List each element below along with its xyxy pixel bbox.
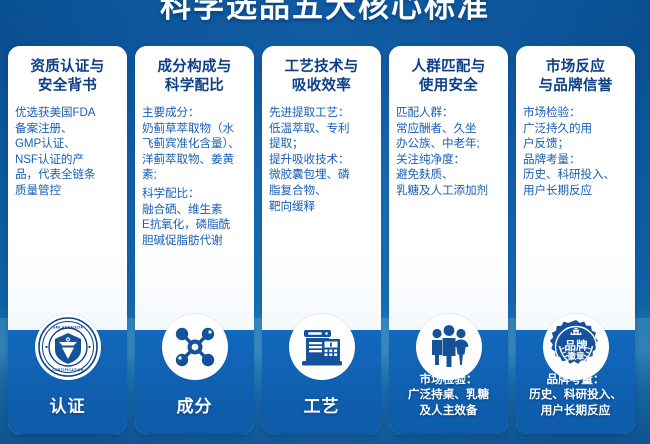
card-icon-zone: GMLANEFIEDA CERTIFICATION xyxy=(8,308,127,386)
card-heading-line: 人群匹配与 xyxy=(396,58,501,77)
card-body-text: 主要成分： 奶蓟草萃取物（水 飞蓟宾准化含量）、 洋蓟萃取物、姜黄素; 科学配比… xyxy=(142,105,247,248)
card-body-line: 科学配比： xyxy=(142,186,247,202)
card-heading-line: 工艺技术与 xyxy=(269,58,374,77)
card-body-line: 低温萃取、专利 xyxy=(269,121,374,137)
card-body-line: 匹配人群： xyxy=(396,105,501,121)
svg-text:GMLANEFIEDA: GMLANEFIEDA xyxy=(52,325,83,329)
card-body-line: 优选获美国FDA xyxy=(15,105,120,121)
card-body-line: 奶蓟草萃取物（水 xyxy=(142,121,247,137)
icon-circle xyxy=(162,314,228,380)
card-footer-line: 用户长期反应 xyxy=(529,403,622,418)
card-content-area: 人群匹配与 使用安全 匹配人群： 常应酬者、久坐 办公族、中老年; 关注纯净度：… xyxy=(389,46,508,330)
card-footer-line: 历史、科研投入、 xyxy=(529,387,622,402)
card-footer-line: 认证 xyxy=(50,396,86,418)
card-body-line: GMP认证、 xyxy=(15,136,120,152)
card-body-line: 户反馈； xyxy=(523,136,628,152)
card-body-line: 先进提取工艺： xyxy=(269,105,374,121)
card-heading: 成分构成与 科学配比 xyxy=(142,58,247,96)
svg-text:CERTIFICATION: CERTIFICATION xyxy=(52,368,83,372)
certification-seal-icon: GMLANEFIEDA CERTIFICATION xyxy=(37,316,99,378)
card-body-line: 乳糖及人工添加剂 xyxy=(396,183,501,199)
card-body-line: 洋蓟萃取物、姜黄素; xyxy=(142,152,247,183)
card-icon-zone: 品牌 徽章 xyxy=(516,308,635,386)
factory-machine-icon xyxy=(296,321,348,373)
card-footer-line: 广泛持桌、乳糖 xyxy=(408,387,489,402)
people-group-icon xyxy=(423,321,475,373)
card-heading-line: 安全背书 xyxy=(15,77,120,96)
card-body-text: 市场检验： 广泛持久的用 户反馈； 品牌考量： 历史、科研投入、 用户长期反应 xyxy=(523,105,628,199)
card-heading-line: 市场反应 xyxy=(523,58,628,77)
card-body-line: 品，代表全链条 xyxy=(15,167,120,183)
card-footer-line: 工艺 xyxy=(304,396,340,418)
card-body-line: 办公族、中老年; xyxy=(396,136,501,152)
card-body-line: 关注纯净度： xyxy=(396,152,501,168)
card-footer-label: 认证 xyxy=(50,396,86,418)
card-heading-line: 吸收效率 xyxy=(269,77,374,96)
criteria-card-ingredients[interactable]: 成分构成与 科学配比 主要成分： 奶蓟草萃取物（水 飞蓟宾准化含量）、 洋蓟萃取… xyxy=(135,46,254,434)
card-body-line: 广泛持久的用 xyxy=(523,121,628,137)
card-body-line: 常应酬者、久坐 xyxy=(396,121,501,137)
criteria-card-brand[interactable]: 市场反应 与品牌信誉 市场检验： 广泛持久的用 户反馈； 品牌考量： 历史、科研… xyxy=(516,46,635,434)
icon-circle: GMLANEFIEDA CERTIFICATION xyxy=(35,314,101,380)
card-content-area: 市场反应 与品牌信誉 市场检验： 广泛持久的用 户反馈； 品牌考量： 历史、科研… xyxy=(516,46,635,330)
card-content-area: 成分构成与 科学配比 主要成分： 奶蓟草萃取物（水 飞蓟宾准化含量）、 洋蓟萃取… xyxy=(135,46,254,330)
card-heading: 市场反应 与品牌信誉 xyxy=(523,58,628,96)
card-body-block: 科学配比： 融合硒、维生素 E抗氧化，磷脂酰 胆碱促脂肪代谢 xyxy=(142,186,247,248)
card-body-line: 提取； xyxy=(269,136,374,152)
card-heading-line: 与品牌信誉 xyxy=(523,77,628,96)
card-body-line: 脂复合物、 xyxy=(269,183,374,199)
card-body-line: 备案注册、 xyxy=(15,121,120,137)
card-footer-label: 成分 xyxy=(177,396,213,418)
card-heading: 资质认证与 安全背书 xyxy=(15,58,120,96)
card-body-line: 胆碱促脂肪代谢 xyxy=(142,233,247,249)
svg-text:徽章: 徽章 xyxy=(566,351,585,361)
card-body-line: 用户长期反应 xyxy=(523,183,628,199)
card-heading: 工艺技术与 吸收效率 xyxy=(269,58,374,96)
card-body-line: NSF认证的产 xyxy=(15,152,120,168)
card-body-text: 优选获美国FDA 备案注册、 GMP认证、 NSF认证的产 品，代表全链条 质量… xyxy=(15,105,120,199)
card-body-line: 提升吸收技术： xyxy=(269,152,374,168)
card-footer-label: 工艺 xyxy=(304,396,340,418)
card-body-line: 历史、科研投入、 xyxy=(523,167,628,183)
card-icon-zone xyxy=(262,308,381,386)
card-body-line: 市场检验： xyxy=(523,105,628,121)
card-heading-line: 科学配比 xyxy=(142,77,247,96)
card-body-text: 匹配人群： 常应酬者、久坐 办公族、中老年; 关注纯净度： 避免麸质、 乳糖及人… xyxy=(396,105,501,199)
card-body-line: 靶向缓释 xyxy=(269,199,374,215)
card-body-text: 先进提取工艺： 低温萃取、专利 提取； 提升吸收技术： 微胶囊包埋、磷 脂复合物… xyxy=(269,105,374,214)
criteria-card-row: 资质认证与 安全背书 优选获美国FDA 备案注册、 GMP认证、 NSF认证的产… xyxy=(8,46,642,434)
page-title: 科学选品五大核心标准 xyxy=(0,0,650,26)
card-heading-line: 资质认证与 xyxy=(15,58,120,77)
criteria-card-process[interactable]: 工艺技术与 吸收效率 先进提取工艺： 低温萃取、专利 提取； 提升吸收技术： 微… xyxy=(262,46,381,434)
icon-circle xyxy=(416,314,482,380)
icon-circle xyxy=(289,314,355,380)
card-body-line: 品牌考量： xyxy=(523,152,628,168)
card-footer-line: 成分 xyxy=(177,396,213,418)
card-icon-zone xyxy=(135,308,254,386)
card-body-block: 主要成分： 奶蓟草萃取物（水 飞蓟宾准化含量）、 洋蓟萃取物、姜黄素; xyxy=(142,105,247,183)
card-body-line: 融合硒、维生素 xyxy=(142,202,247,218)
card-body-line: 主要成分： xyxy=(142,105,247,121)
icon-circle: 品牌 徽章 xyxy=(543,314,609,380)
criteria-card-certification[interactable]: 资质认证与 安全背书 优选获美国FDA 备案注册、 GMP认证、 NSF认证的产… xyxy=(8,46,127,434)
card-footer-line: 及人主效备 xyxy=(408,403,489,418)
card-heading-line: 成分构成与 xyxy=(142,58,247,77)
card-body-line: 避免麸质、 xyxy=(396,167,501,183)
page-title-container: 科学选品五大核心标准 xyxy=(0,0,650,26)
card-body-line: 质量管控 xyxy=(15,183,120,199)
criteria-card-audience[interactable]: 人群匹配与 使用安全 匹配人群： 常应酬者、久坐 办公族、中老年; 关注纯净度：… xyxy=(389,46,508,434)
card-heading: 人群匹配与 使用安全 xyxy=(396,58,501,96)
card-body-line: E抗氧化，磷脂酰 xyxy=(142,217,247,233)
card-body-line: 飞蓟宾准化含量）、 xyxy=(142,136,247,152)
molecule-icon xyxy=(169,321,221,373)
card-heading-line: 使用安全 xyxy=(396,77,501,96)
card-body-line: 微胶囊包埋、磷 xyxy=(269,167,374,183)
brand-badge-icon: 品牌 徽章 xyxy=(547,318,605,376)
card-content-area: 资质认证与 安全背书 优选获美国FDA 备案注册、 GMP认证、 NSF认证的产… xyxy=(8,46,127,330)
card-icon-zone xyxy=(389,308,508,386)
card-content-area: 工艺技术与 吸收效率 先进提取工艺： 低温萃取、专利 提取； 提升吸收技术： 微… xyxy=(262,46,381,330)
